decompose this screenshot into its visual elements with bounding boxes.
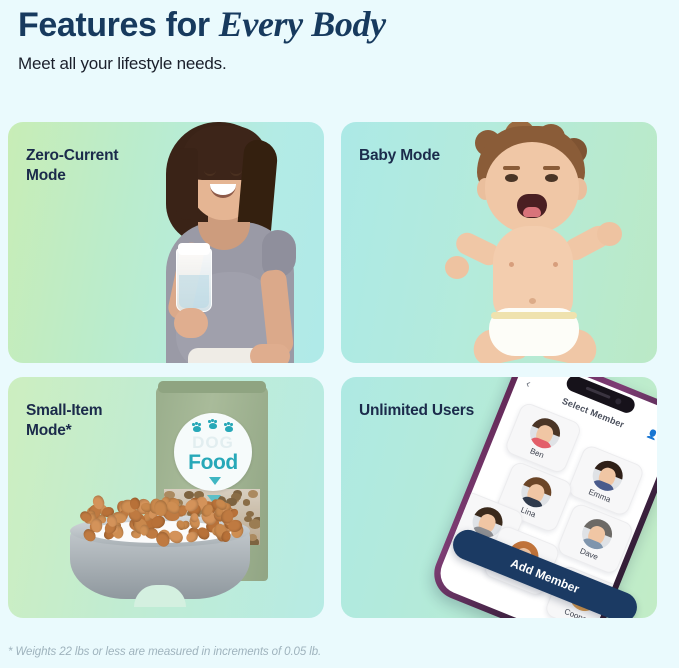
card-label: Baby Mode xyxy=(359,146,440,166)
card-label-line2: Mode xyxy=(26,166,118,186)
pet-food-photo: DOG Food xyxy=(68,377,324,618)
feature-card-zero-current-mode[interactable]: Zero-Current Mode xyxy=(8,122,324,363)
page-title: Features for Every Body xyxy=(18,4,679,45)
feature-card-small-item-mode[interactable]: Small-Item Mode* DOG Food xyxy=(8,377,324,618)
feature-card-grid: Zero-Current Mode xyxy=(8,122,671,618)
card-label-line1: Zero-Current xyxy=(26,146,118,166)
dog-food-brand-line2: Food xyxy=(174,451,252,475)
footnote: * Weights 22 lbs or less are measured in… xyxy=(8,646,321,658)
phone-mockup: ‹ Select Member 👤+ Ben Emma xyxy=(451,377,657,618)
card-label-line1: Unlimited Users xyxy=(359,401,474,421)
page-header: Features for Every Body Meet all your li… xyxy=(0,0,679,74)
baby-photo xyxy=(431,122,631,363)
card-label: Zero-Current Mode xyxy=(26,146,118,186)
page-title-plain: Features for xyxy=(18,6,219,44)
water-glass xyxy=(176,248,212,312)
page-subtitle: Meet all your lifestyle needs. xyxy=(18,54,679,74)
feature-card-baby-mode[interactable]: Baby Mode xyxy=(341,122,657,363)
card-label: Unlimited Users xyxy=(359,401,474,421)
dog-food-brand-line1: DOG xyxy=(174,433,252,453)
pregnant-woman-photo xyxy=(136,122,324,363)
card-label-line1: Small-Item xyxy=(26,401,102,421)
card-label-line1: Baby Mode xyxy=(359,146,440,166)
feature-card-unlimited-users[interactable]: Unlimited Users ‹ Select Member 👤+ Ben xyxy=(341,377,657,618)
card-label-line2: Mode* xyxy=(26,421,102,441)
features-page: Features for Every Body Meet all your li… xyxy=(0,0,679,668)
dog-bowl xyxy=(70,499,250,607)
kibble-pile xyxy=(80,497,242,541)
dog-food-label: DOG Food xyxy=(174,413,252,491)
card-label: Small-Item Mode* xyxy=(26,401,102,441)
page-title-emphasis: Every Body xyxy=(219,4,386,44)
